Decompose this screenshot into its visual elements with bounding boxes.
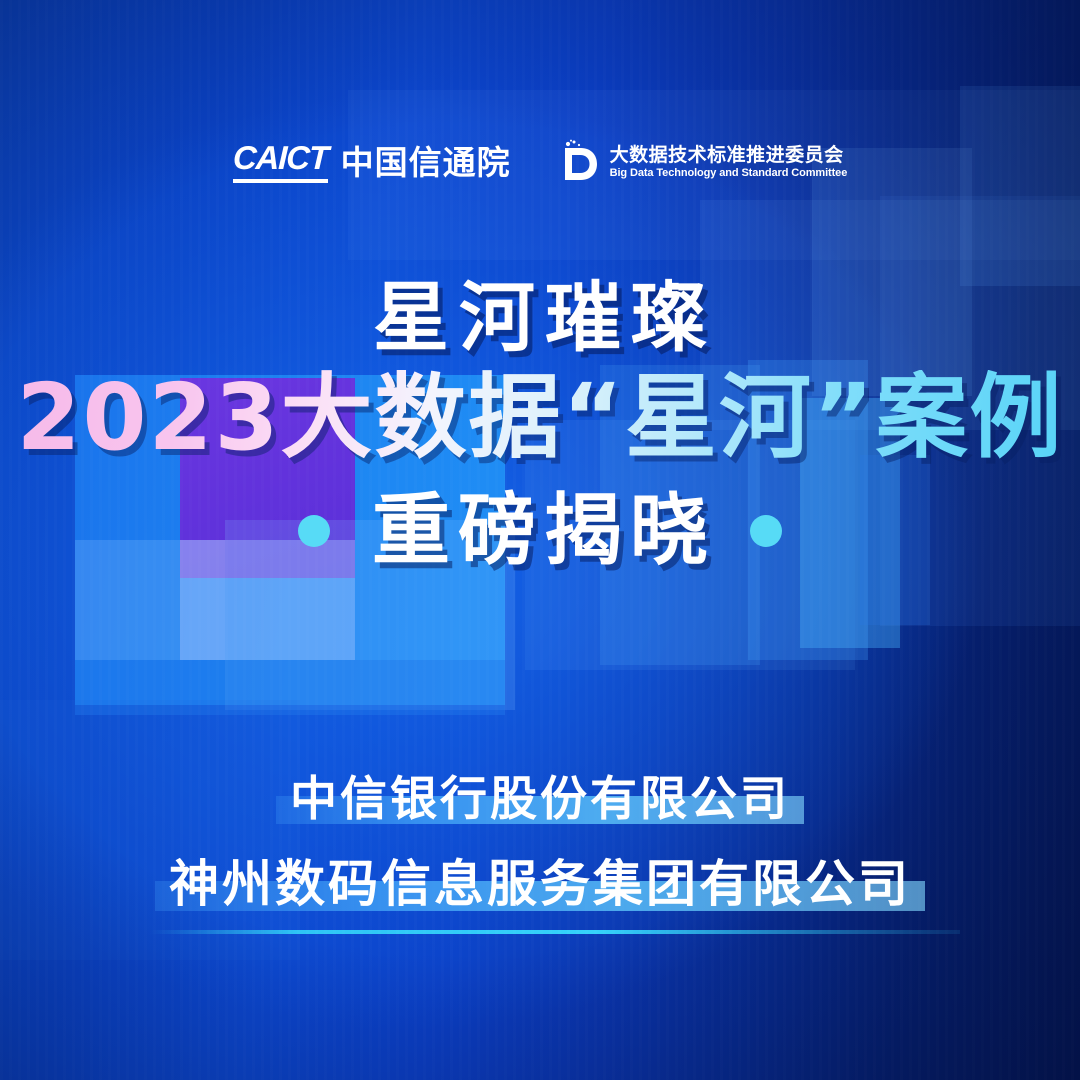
- caict-underline-rule: [233, 179, 328, 183]
- caict-chinese-name: 中国信通院: [341, 146, 511, 179]
- caict-acronym: CAICT: [232, 141, 328, 174]
- headline-line-1: 星河璀璨: [0, 280, 1080, 356]
- promo-poster: CAICT 中国信通院 大数据技术标准推进委员会 Big Data Techno…: [0, 0, 1080, 1080]
- logo-row: CAICT 中国信通院 大数据技术标准推进委员会 Big Data Techno…: [0, 139, 1080, 185]
- cyan-divider-line: [150, 930, 960, 934]
- bigdata-committee-text: 大数据技术标准推进委员会 Big Data Technology and Sta…: [610, 145, 848, 180]
- bigdata-committee-chinese: 大数据技术标准推进委员会: [610, 145, 848, 166]
- company-name-2: 神州数码信息服务集团有限公司: [155, 855, 925, 914]
- caict-wordmark: CAICT: [233, 141, 328, 183]
- headline-line-3-row: 重磅揭晓: [0, 492, 1080, 570]
- company-name-1-text: 中信银行股份有限公司: [290, 772, 790, 827]
- headline-group: 星河璀璨 2023大数据“星河”案例 重磅揭晓: [0, 280, 1080, 570]
- company-name-2-text: 神州数码信息服务集团有限公司: [169, 855, 911, 913]
- bigdata-committee-logo: 大数据技术标准推进委员会 Big Data Technology and Sta…: [559, 139, 848, 185]
- caict-logo: CAICT 中国信通院: [233, 141, 511, 183]
- headline-line-3: 重磅揭晓: [364, 492, 716, 570]
- company-name-1: 中信银行股份有限公司: [276, 772, 804, 827]
- headline-line-2: 2023大数据“星河”案例: [0, 370, 1080, 466]
- bullet-dot-left-icon: [298, 515, 330, 547]
- bigdata-committee-english: Big Data Technology and Standard Committ…: [610, 167, 848, 179]
- company-list: 中信银行股份有限公司 神州数码信息服务集团有限公司: [0, 772, 1080, 914]
- bullet-dot-right-icon: [750, 515, 782, 547]
- letter-d-icon: [559, 139, 599, 185]
